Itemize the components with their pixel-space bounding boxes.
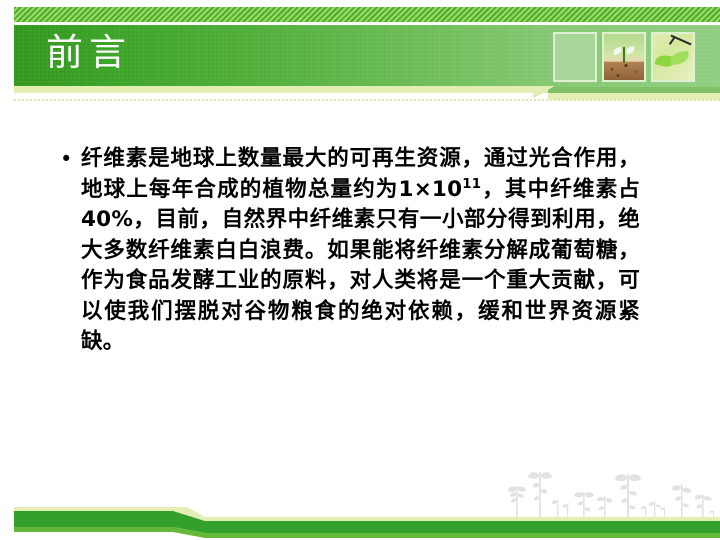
- bullet-point-icon: •: [55, 144, 81, 174]
- slide-canvas: 前言 • 纤维素是地球上数量最大的可再生资源，通过光合作用，地球上每年合成的植物…: [0, 0, 720, 540]
- sprout-silhouettes-icon: [505, 466, 720, 522]
- thumbnail-leaves: [651, 32, 695, 82]
- leaf-left-icon: [612, 47, 623, 56]
- paragraph-part-two: ，其中纤维素占40%，目前，自然界中纤维素只有一小部分得到利用，绝大多数纤维素白…: [81, 177, 640, 355]
- footer-bar-right-dark: [204, 521, 720, 533]
- header-underline-left: [14, 86, 548, 93]
- content-body: • 纤维素是地球上数量最大的可再生资源，通过光合作用，地球上每年合成的植物总量约…: [55, 144, 640, 358]
- leaf-right-icon: [625, 46, 636, 55]
- header-thumbnail-group: [553, 32, 711, 82]
- footer-bar-right-light: [204, 533, 720, 538]
- bullet-list-item: • 纤维素是地球上数量最大的可再生资源，通过光合作用，地球上每年合成的植物总量约…: [55, 144, 640, 358]
- soil-icon: [604, 62, 644, 80]
- exponent-superscript: 11: [462, 176, 481, 191]
- garden-tool-head-icon: [669, 37, 675, 45]
- stem-icon: [623, 47, 625, 63]
- body-paragraph: 纤维素是地球上数量最大的可再生资源，通过光合作用，地球上每年合成的植物总量约为1…: [81, 144, 640, 358]
- footer-bar-step: [173, 507, 205, 538]
- thumbnail-placeholder: [553, 32, 597, 82]
- thumbnail-seedling: [602, 32, 646, 82]
- page-title: 前言: [46, 24, 132, 82]
- header-dotted-rule: [14, 99, 720, 101]
- footer-bar-left-dark: [14, 511, 174, 527]
- footer-bar-left-light: [14, 527, 174, 532]
- leaf-two-icon: [669, 51, 689, 66]
- header-stripe-band: [14, 7, 720, 22]
